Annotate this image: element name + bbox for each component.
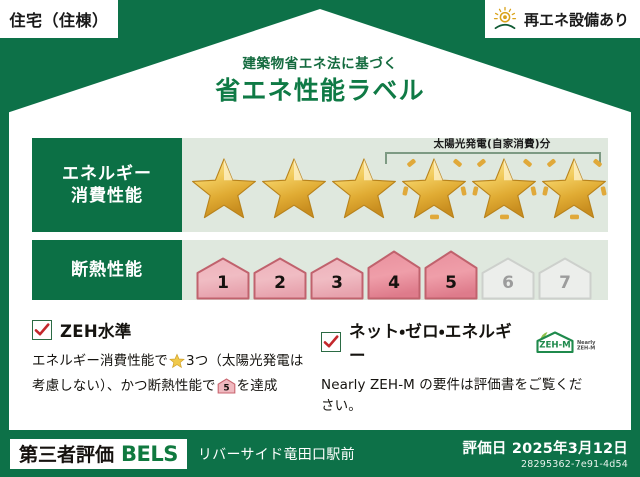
house-filled: 4 [367,250,421,300]
svg-text:ZEH-M: ZEH-M [539,340,570,350]
sun-icon [492,6,518,32]
building-name: リバーサイド竜田口駅前 [198,444,355,464]
star-solar [540,149,608,221]
check-zeh-standard: ZEH水準 エネルギー消費性能で3つ（太陽光発電は考慮しない）、かつ断熱性能で5… [32,318,321,418]
house-empty: 6 [481,257,535,300]
house-number: 3 [310,273,364,293]
energy-performance-label: 住宅（住棟） 再エネ設備あり 建築物省エネ法に基づく [0,0,640,477]
badge-house-type: 住宅（住棟） [0,0,118,38]
evaluation-id: 28295362-7e91-4d54 [463,459,628,470]
check-sections: ZEH水準 エネルギー消費性能で3つ（太陽光発電は考慮しない）、かつ断熱性能で5… [32,318,610,418]
inline-star-icon [169,353,185,376]
house-number: 7 [538,273,592,293]
evaluation-date: 評価日 2025年3月12日 [463,437,628,458]
check-nze-text: Nearly ZEH-M の要件は評価書をご覧ください。 [321,375,596,418]
row-insulation-label: 断熱性能 [32,240,182,300]
title-subtitle: 建築物省エネ法に基づく [0,56,640,72]
title-main: 省エネ性能ラベル [0,77,640,106]
house-number: 2 [253,273,307,293]
house-number: 6 [481,273,535,293]
star-rating [182,149,608,221]
house-filled: 1 [196,257,250,300]
footer-bar: 第三者評価 BELS リバーサイド竜田口駅前 評価日 2025年3月12日 28… [0,430,640,477]
house-filled: 2 [253,257,307,300]
star-solar [470,149,538,221]
house-empty: 7 [538,257,592,300]
svg-text:ZEH-M: ZEH-M [577,345,595,351]
row-energy-label: エネルギー 消費性能 [32,138,182,232]
star-filled [260,149,328,221]
house-filled: 3 [310,257,364,300]
label-title-block: 建築物省エネ法に基づく 省エネ性能ラベル [0,56,640,106]
check-nze-title: ネット・ゼロ・エネルギー [349,318,522,366]
checkbox-zeh [32,320,52,340]
check-net-zero-energy: ネット・ゼロ・エネルギー ZEH-M Nearly ZEH-M Nearly Z… [321,318,610,418]
footer-evaluation-info: 評価日 2025年3月12日 28295362-7e91-4d54 [463,437,628,470]
row-energy-label-line1: エネルギー [62,163,152,185]
check-nze-head: ネット・ゼロ・エネルギー ZEH-M Nearly ZEH-M [321,318,596,366]
rating-rows: エネルギー 消費性能 太陽光発電(自家消費)分 [32,138,608,308]
check-zeh-title: ZEH水準 [60,318,132,342]
bels-jp-label: 第三者評価 [19,440,114,467]
house-rating: 1 2 [182,240,592,300]
svg-text:5: 5 [223,384,229,394]
badge-house-type-label: 住宅（住棟） [9,7,108,31]
star-solar [400,149,468,221]
bels-badge: 第三者評価 BELS [10,439,187,469]
row-insulation-performance: 断熱性能 1 [32,240,608,300]
star-filled [190,149,258,221]
check-zeh-text: エネルギー消費性能で3つ（太陽光発電は考慮しない）、かつ断熱性能で5を達成 [32,351,307,402]
badge-renewable-label: 再エネ設備あり [524,9,629,30]
house-number: 1 [196,273,250,293]
check-zeh-head: ZEH水準 [32,318,307,342]
check-zeh-text-a: エネルギー消費性能で [32,353,168,369]
bels-en-label: BELS [121,442,178,466]
row-insulation-label-line1: 断熱性能 [71,259,143,281]
house-number: 4 [367,273,421,293]
check-zeh-text-c: を達成 [237,378,278,394]
zeh-m-logo: ZEH-M Nearly ZEH-M [534,329,596,355]
badge-renewable-equipment: 再エネ設備あり [485,0,640,38]
house-filled: 5 [424,250,478,300]
row-insulation-body: 1 2 [182,240,608,300]
star-filled [330,149,398,221]
row-energy-body: 太陽光発電(自家消費)分 [182,138,608,232]
checkbox-nze [321,332,341,352]
inline-house-5-icon: 5 [217,378,236,401]
row-energy-label-line2: 消費性能 [71,185,143,207]
house-number: 5 [424,273,478,293]
row-energy-consumption: エネルギー 消費性能 太陽光発電(自家消費)分 [32,138,608,232]
